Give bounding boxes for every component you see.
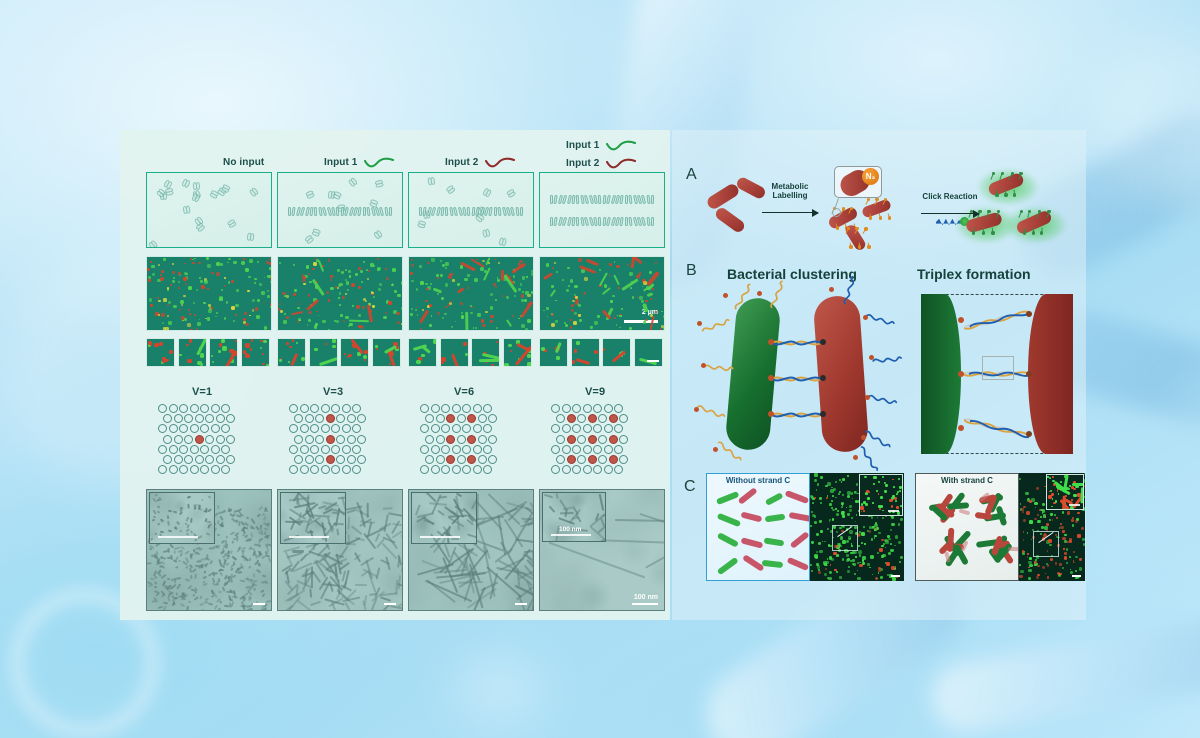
azide-badge: N₃ [862,168,879,185]
slide-green-dot [888,538,891,541]
crop-dot [594,350,598,354]
fluorescent-dot [150,304,153,307]
crop-dot [364,350,368,354]
dna-chain-unit [646,195,650,204]
fluorescent-dot [614,317,616,319]
column-label-input-2-text: Input 2 [445,157,478,168]
slide-green-dot [1049,519,1052,522]
fluorescent-dot [255,307,258,310]
lattice-node [604,445,613,454]
lattice-node [347,455,356,464]
slide-green-dot [890,529,892,531]
fluorescent-dot [259,283,262,286]
fluorescent-dot [555,300,557,302]
lattice-node [174,455,183,464]
slide-green-dot [819,497,822,500]
lattice-node [336,435,345,444]
lattice-node [331,424,340,433]
lattice-node [452,404,461,413]
slide-red-dot [1023,506,1026,509]
crop-dot [179,354,181,356]
slide-green-dot [854,573,856,575]
tem-filament [227,576,230,582]
crop-dot [344,353,346,355]
lattice-node [211,465,220,474]
fluorescent-dot [415,309,417,311]
slide-green-dot [898,541,901,544]
slide-inset-dot [1051,506,1052,507]
panel-letter-a: A [686,166,697,184]
column-label-input-2-stacked: Input 2 [566,158,636,169]
fluorescent-dot [506,296,509,299]
slide-inset-dot [885,484,888,487]
slide-green-dot [1034,502,1038,506]
fluorescent-dot [440,260,442,262]
lens-focus-circle [832,208,841,217]
slide-red-dot [814,497,816,499]
stray-bacterium [959,508,971,515]
slide-inset-dot [873,483,875,485]
lattice-node [431,445,440,454]
fluorescent-dot [525,291,529,295]
slide-green-dot [890,549,894,553]
slide-green-dot [824,541,826,543]
lattice-node [593,465,602,474]
slide-green-dot [1035,507,1037,509]
lattice-node [300,424,309,433]
tem-scale-bar [384,603,396,605]
fluorescent-dot [383,316,387,320]
fluorescent-dot [452,279,455,282]
slide-green-dot [851,517,853,519]
dna-monomer [485,231,491,238]
panel-letter-b: B [686,262,697,280]
slide-green-dot [899,561,902,564]
lattice-node [483,404,492,413]
crop-dot [301,357,305,361]
slide-green-dot [880,576,883,579]
crop-scale-bar [647,360,659,362]
slide-green-dot [1028,577,1032,581]
fluorescent-dot [629,327,632,330]
dispersed-green-bacterium [717,513,741,527]
lattice-node-active [326,414,335,423]
slide-inset-dot [865,503,868,506]
slide-green-dot [829,556,833,560]
without-strand-c-illustration: Without strand C [706,473,810,581]
slide-green-dot [898,523,901,526]
fluorescent-dot [206,257,209,260]
tem-filament [147,561,152,564]
slide-green-dot [875,522,878,525]
fluorescent-dot [619,315,621,317]
fluorescent-dot [309,281,311,283]
lattice-node [556,414,565,423]
lattice-node [315,435,324,444]
slide-green-dot [877,517,879,519]
spike-tip [849,245,852,248]
lattice-node [226,455,235,464]
crop-dot [508,344,512,348]
fluorescent-dot [429,324,432,327]
slide-red-dot [1036,576,1039,579]
slide-green-dot [830,489,834,493]
triplex-bead-right [1026,311,1032,317]
slide-green-dot [884,539,888,543]
fluorescent-dot [245,323,249,327]
tem-filament [231,518,234,520]
tem-filament [383,506,393,509]
lattice-node [462,465,471,474]
slide-green-dot [841,502,844,505]
tem-filament [194,574,196,579]
fluorescent-dot [221,289,223,291]
lattice-node [331,404,340,413]
slide-green-dot [826,565,828,567]
dna-chain-unit [625,195,628,204]
column-label-input-1: Input 1 [324,157,394,168]
lattice-node [478,414,487,423]
lattice-node [483,465,492,474]
lattice-node [179,465,188,474]
slide-green-dot [1083,543,1085,546]
slide-green-dot [894,545,896,547]
fluorescent-dot [308,294,311,297]
dna-monomer [182,178,189,186]
fluorescent-dot [330,275,333,278]
slide-red-dot [1055,562,1058,565]
slide-green-dot [829,503,832,506]
fluorescent-dot [445,262,449,266]
crop-dot [292,339,295,342]
fluorescent-dot [358,286,362,290]
slide-red-dot [1064,556,1068,560]
lattice-node [336,455,345,464]
lattice-node [305,414,314,423]
lattice-node [195,455,204,464]
slide-green-dot [1025,492,1029,496]
micrograph-input-2 [408,256,534,331]
slide-red-dot [1077,534,1081,538]
column-label-no-input: No input [223,157,264,168]
spike-tip [1032,231,1035,234]
slide-inset-dot [882,510,884,512]
fluorescent-dot [551,285,554,288]
lattice-node [310,424,319,433]
slide-red-dot [1062,530,1065,533]
fluorescent-dot [257,261,259,263]
fluorescent-dot [431,315,433,317]
slide-green-dot [887,574,889,576]
crop-dot [465,353,468,356]
lattice-node [190,465,199,474]
slide-green-dot [811,570,813,572]
fluorescent-dot [496,327,498,329]
fluorescent-dot [642,286,644,288]
lattice-node [221,445,230,454]
slide-green-dot [847,513,850,516]
tem-inset-filament [296,496,299,505]
lattice-node [163,455,172,464]
fluorescent-dot [233,320,236,323]
slide-red-dot [833,552,836,555]
slide-green-dot [1050,513,1053,516]
lattice-node [315,414,324,423]
slide-red-dot [1077,512,1079,514]
fluorescent-dot [401,281,403,285]
lattice-node [342,424,351,433]
fluorescent-dot [340,314,343,317]
fluorescent-dot [455,321,457,323]
fluorescent-dot [461,312,463,314]
slide-green-dot [1070,571,1073,574]
spike-tip [997,210,1000,213]
fluorescent-dot [477,313,481,317]
fluorescent-dot [663,315,665,318]
crop-dot [262,363,265,366]
slide-inset-dot [1055,500,1058,503]
slide-inset-dot [899,486,902,489]
fluorescent-rod [648,316,655,331]
slide-red-dot [1081,527,1084,530]
crop-dot [197,361,202,366]
slide-red-dot [881,539,883,541]
dna-monomer [314,228,321,235]
column-label-input-1-stacked: Input 1 [566,140,636,151]
dispersed-green-bacterium [764,513,785,521]
slide-inset-dot [1052,498,1054,500]
fluorescent-dot [445,283,449,287]
lattice-node [342,404,351,413]
slide-green-dot [849,505,852,508]
crop-thumbnail [471,338,500,367]
fluorescent-dot [419,265,422,268]
fluorescent-dot [347,289,349,291]
fluorescent-dot [367,278,369,280]
fluorescent-dot [188,286,192,290]
slide-inset-dot [876,490,878,492]
lattice-node [336,414,345,423]
fluorescent-dot [575,314,577,316]
slide-inset-dot [1049,477,1051,479]
dispersed-red-bacterium [742,554,764,571]
fluorescent-dot [150,261,152,263]
lattice-node [572,465,581,474]
fluorescent-dot [199,319,201,321]
fluorescent-dot [524,299,528,303]
fluorescent-dot [231,280,234,283]
micrograph-input-1 [277,256,403,331]
lattice-node [614,404,623,413]
lattice-node [551,424,560,433]
lattice-node [431,465,440,474]
slide-red-dot [886,562,890,566]
input-1-squiggle-icon [364,157,394,168]
crop-thumbnail [241,338,270,367]
anchor-bead [697,321,702,326]
lattice-node [321,465,330,474]
slide-red-dot [1060,573,1062,575]
fluorescent-dot [629,272,633,276]
crop-dot [286,342,290,346]
slide-red-dot [1079,558,1082,561]
fluorescent-dot [307,324,309,326]
fluorescent-dot [149,298,153,302]
lattice-node [462,445,471,454]
fluorescent-dot [416,307,418,309]
tem-filament [242,534,245,537]
lattice-node-active [567,414,576,423]
fluorescent-dot [297,307,300,310]
dna-monomer [164,179,171,187]
fluorescent-dot [531,272,534,276]
crop-dot [222,346,227,351]
lattice-node [562,424,571,433]
crop-dot [219,343,222,346]
slide-green-dot [812,502,814,504]
fluorescent-dot [328,329,330,331]
lattice-node-active [195,435,204,444]
fluorescent-dot [302,274,304,276]
lattice-node-active [588,435,597,444]
dna-chain-unit [384,207,388,216]
crop-dot [504,363,509,367]
fluorescent-dot [630,287,632,289]
fluorescent-dot [330,279,333,282]
fluorescent-dot [279,262,281,264]
slide-green-dot [842,494,844,496]
fluorescent-dot [152,273,155,276]
dna-chain-unit [576,217,579,226]
slide-red-dot [1059,563,1062,566]
lattice-node [205,435,214,444]
dispersed-red-bacterium [787,557,810,571]
tem-inset-scale-bar [420,536,460,538]
duplex-bead-left [768,339,774,345]
lattice-node [457,455,466,464]
dispersed-red-bacterium [740,537,763,548]
fluorescent-dot [377,268,380,271]
tem-filament [153,575,157,578]
fluorescent-dot [220,263,223,266]
tem-filament [215,582,219,585]
fluorescent-dot [173,305,177,309]
slide-inset-dot [892,479,894,481]
fluorescent-rod [511,263,524,274]
dispersed-green-bacterium [716,556,738,574]
region-of-interest-box [832,525,858,551]
fluorescent-dot [578,314,581,317]
spike-tip [987,210,990,213]
slide-red-dot [834,569,837,572]
crop-dot [463,342,468,347]
lattice-node [190,404,199,413]
with-strand-c-micrograph [1019,473,1085,581]
stacked-label-input-2: Input 2 [566,158,599,169]
fluorescent-dot [617,315,619,317]
crop-dot [211,355,213,357]
slide-green-dot [810,564,812,566]
slide-red-dot [1069,538,1072,541]
crop-rod [576,358,590,365]
duplex-bead-right [820,411,826,417]
fluorescent-dot [362,306,365,309]
metabolic-labelling-line1: Metabolic [772,182,809,191]
crop-thumbnail [146,338,175,367]
anchor-bead [757,291,762,296]
crop-dot [212,361,214,363]
fluorescent-dot [264,277,266,279]
fluorescent-rod [501,270,504,281]
lattice-node [352,424,361,433]
crop-dot [496,341,498,343]
fluorescent-dot [473,327,475,329]
dispersed-green-bacterium [765,492,784,506]
crop-rod [290,353,298,366]
slide-inset-dot [878,493,879,494]
slide-green-dot [1062,567,1064,569]
fluorescent-dot [227,262,229,264]
lattice-node [593,424,602,433]
fluorescent-dot [597,315,600,318]
crop-thumbnail [440,338,469,367]
slide-green-dot [839,576,842,579]
fluorescent-rod [506,319,512,327]
dna-chain [419,207,525,216]
slide-red-dot [1029,500,1032,503]
slide-green-dot [869,526,873,530]
slide-inset-scale-bar [1069,504,1080,506]
fluorescent-dot [308,273,310,275]
slide-green-dot [890,543,893,546]
tem-scale-bar [632,603,658,605]
fluorescent-dot [546,263,550,267]
tem-inset [149,492,215,544]
slide-inset-dot [895,500,897,502]
lattice-node [577,455,586,464]
slide-red-dot [1046,523,1049,526]
slide-green-dot [847,495,851,499]
crop-dot [510,350,512,352]
lattice-node [420,445,429,454]
lattice-node [300,445,309,454]
dna-monomer [375,231,382,239]
lattice-node [294,414,303,423]
fluorescent-dot [224,285,226,287]
fluorescent-dot [643,321,646,324]
lattice-node [583,424,592,433]
slide-red-dot [1047,576,1050,579]
lattice-node [452,445,461,454]
bridging-duplex [772,336,822,348]
anchor-bead [701,363,706,368]
tem-inset: 100 nm [542,492,606,542]
fluorescent-dot [299,320,301,322]
fluorescent-dot [345,316,348,319]
fluorescent-dot [249,259,253,263]
fluorescent-dot [411,280,414,283]
fluorescent-dot [187,323,191,327]
slide-inset [1046,474,1084,510]
slide-red-dot [1022,550,1025,553]
slide-red-dot [1037,565,1040,568]
fluorescent-dot [401,307,403,310]
slide-green-dot [841,481,843,483]
fluorescent-dot [543,310,545,312]
spike-tip [867,245,870,248]
fluorescent-dot [247,290,250,293]
dna-monomer [447,187,455,195]
